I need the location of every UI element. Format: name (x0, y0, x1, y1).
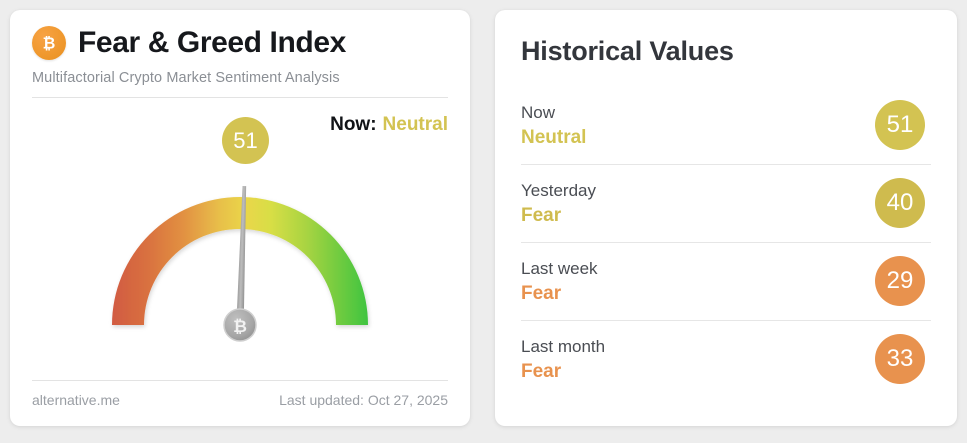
historical-values-inner: Historical Values Now Neutral 51 Yesterd… (495, 10, 957, 398)
svg-text:₿: ₿ (43, 35, 56, 53)
list-item-classification: Fear (521, 206, 596, 225)
list-item: Last month Fear 33 (521, 321, 931, 398)
now-status: Now:Neutral (330, 114, 448, 136)
list-item-label: Now (521, 104, 586, 121)
historical-values-card: Historical Values Now Neutral 51 Yesterd… (495, 10, 957, 426)
list-item-value-badge: 29 (875, 256, 925, 306)
list-item-value: 29 (887, 269, 914, 293)
list-item-value: 33 (887, 347, 914, 371)
footer-divider (32, 380, 448, 381)
historical-values-title: Historical Values (521, 36, 931, 67)
list-item-value-badge: 40 (875, 178, 925, 228)
list-item-text: Now Neutral (521, 104, 586, 147)
page-subtitle: Multifactorial Crypto Market Sentiment A… (32, 70, 448, 87)
list-item-classification: Neutral (521, 128, 586, 147)
gauge-card: ₿ Fear & Greed Index Multifactorial Cryp… (10, 10, 470, 426)
gauge-card-footer: alternative.me Last updated: Oct 27, 202… (32, 380, 448, 408)
gauge-value-badge: 51 (222, 117, 269, 164)
fear-greed-index-page: ₿ Fear & Greed Index Multifactorial Cryp… (0, 0, 967, 443)
gauge-card-header: ₿ Fear & Greed Index Multifactorial Cryp… (10, 10, 470, 98)
header-divider (32, 97, 448, 98)
now-status-label: Now: (330, 114, 376, 135)
last-updated-label: Last updated: Oct 27, 2025 (279, 392, 448, 408)
now-status-value: Neutral (383, 114, 448, 135)
bitcoin-icon: ₿ (32, 26, 66, 60)
list-item-value-badge: 33 (875, 334, 925, 384)
list-item-label: Last month (521, 338, 605, 355)
list-item-value: 40 (887, 191, 914, 215)
list-item-text: Yesterday Fear (521, 182, 596, 225)
list-item-label: Last week (521, 260, 598, 277)
list-item-text: Last month Fear (521, 338, 605, 381)
list-item-classification: Fear (521, 284, 598, 303)
list-item-text: Last week Fear (521, 260, 598, 303)
footer-row: alternative.me Last updated: Oct 27, 202… (32, 392, 448, 408)
list-item-value-badge: 51 (875, 100, 925, 150)
list-item: Now Neutral 51 (521, 87, 931, 165)
svg-text:₿: ₿ (233, 317, 247, 337)
gauge-value-badge-text: 51 (233, 130, 257, 152)
list-item-label: Yesterday (521, 182, 596, 199)
historical-values-list: Now Neutral 51 Yesterday Fear 40 (521, 87, 931, 398)
source-label[interactable]: alternative.me (32, 392, 120, 408)
list-item-value: 51 (887, 113, 914, 137)
list-item: Yesterday Fear 40 (521, 165, 931, 243)
list-item: Last week Fear 29 (521, 243, 931, 321)
list-item-classification: Fear (521, 362, 605, 381)
gauge-chart: ₿ (10, 160, 470, 380)
title-row: ₿ Fear & Greed Index (32, 26, 448, 60)
page-title: Fear & Greed Index (78, 28, 346, 58)
